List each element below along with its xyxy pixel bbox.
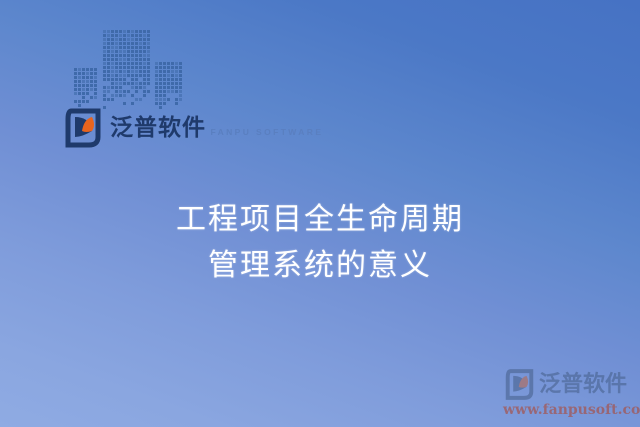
cityscape-pixel (107, 82, 110, 85)
cityscape-pixel (123, 58, 126, 61)
cityscape-pixel (123, 34, 126, 37)
cityscape-pixel (171, 70, 174, 73)
cityscape-pixel (86, 72, 89, 75)
cityscape-pixel (119, 86, 122, 89)
cityscape-pixel (135, 54, 138, 57)
cityscape-pixel (123, 54, 126, 57)
cityscape-pixel (123, 78, 126, 81)
cityscape-pixel (135, 90, 138, 93)
cityscape-pixel (119, 98, 122, 101)
cityscape-pixel (179, 94, 182, 97)
cityscape-pixel (147, 66, 150, 69)
cityscape-pixel (143, 34, 146, 37)
cityscape-pixel (107, 98, 110, 101)
cityscape-pixel (119, 94, 122, 97)
pixelated-cityscape-graphic (74, 26, 186, 112)
cityscape-pixel (74, 84, 77, 87)
cityscape-pixel (139, 78, 142, 81)
cityscape-pixel (139, 90, 142, 93)
cityscape-pixel (74, 68, 77, 71)
cityscape-pixel (155, 74, 158, 77)
cityscape-pixel (131, 54, 134, 57)
cityscape-pixel (167, 102, 170, 105)
cityscape-pixel (147, 82, 150, 85)
cityscape-pixel (143, 30, 146, 33)
cityscape-pixel (159, 90, 162, 93)
cityscape-pixel (119, 34, 122, 37)
cityscape-pixel (179, 62, 182, 65)
cityscape-pixel (111, 66, 114, 69)
cityscape-pixel (78, 100, 81, 103)
cityscape-pixel (123, 66, 126, 69)
slide-title-line-1: 工程项目全生命周期 (0, 197, 640, 243)
cityscape-pixel (139, 82, 142, 85)
cityscape-pixel (127, 34, 130, 37)
cityscape-pixel (123, 70, 126, 73)
cityscape-pixel (127, 30, 130, 33)
cityscape-pixel (103, 62, 106, 65)
cityscape-pixel (159, 78, 162, 81)
cityscape-pixel (107, 94, 110, 97)
cityscape-pixel (127, 102, 130, 105)
cityscape-pixel (143, 94, 146, 97)
cityscape-pixel (115, 86, 118, 89)
cityscape-pixel (135, 98, 138, 101)
cityscape-pixel (131, 78, 134, 81)
cityscape-pixel (107, 42, 110, 45)
cityscape-pixel (155, 90, 158, 93)
cityscape-pixel (139, 42, 142, 45)
cityscape-pixel (147, 98, 150, 101)
cityscape-pixel (111, 86, 114, 89)
cityscape-pixel (94, 84, 97, 87)
cityscape-pixel (115, 50, 118, 53)
cityscape-pixel (131, 82, 134, 85)
cityscape-pixel (171, 86, 174, 89)
cityscape-pixel (111, 94, 114, 97)
fanpu-emblem-icon (62, 107, 104, 149)
cityscape-pixel (163, 82, 166, 85)
cityscape-pixel (94, 92, 97, 95)
cityscape-pixel (94, 72, 97, 75)
cityscape-pixel (135, 74, 138, 77)
cityscape-pixel (123, 94, 126, 97)
cityscape-pixel (107, 58, 110, 61)
cityscape-pixel (135, 38, 138, 41)
cityscape-pixel (131, 102, 134, 105)
cityscape-pixel (139, 34, 142, 37)
cityscape-pixel (123, 102, 126, 105)
cityscape-pixel (175, 70, 178, 73)
cityscape-pixel (115, 94, 118, 97)
cityscape-pixel (119, 58, 122, 61)
cityscape-pixel (143, 50, 146, 53)
cityscape-pixel (119, 30, 122, 33)
cityscape-pixel (147, 70, 150, 73)
cityscape-pixel (74, 80, 77, 83)
cityscape-pixel (115, 42, 118, 45)
cityscape-pixel (155, 62, 158, 65)
watermark-url: www.fanpusoft.com (503, 402, 639, 418)
cityscape-pixel (78, 96, 81, 99)
cityscape-pixel (139, 70, 142, 73)
cityscape-pixel (111, 74, 114, 77)
cityscape-pixel (147, 30, 150, 33)
cityscape-pixel (107, 30, 110, 33)
cityscape-pixel (135, 58, 138, 61)
cityscape-pixel (115, 82, 118, 85)
cityscape-pixel (167, 82, 170, 85)
cityscape-pixel (127, 98, 130, 101)
cityscape-pixel (107, 38, 110, 41)
cityscape-pixel (163, 90, 166, 93)
cityscape-pixel (147, 74, 150, 77)
cityscape-pixel (147, 46, 150, 49)
cityscape-pixel (127, 90, 130, 93)
cityscape-pixel (90, 88, 93, 91)
cityscape-pixel (139, 66, 142, 69)
cityscape-pixel (111, 78, 114, 81)
cityscape-pixel (131, 46, 134, 49)
cityscape-pixel (74, 92, 77, 95)
cityscape-pixel (143, 42, 146, 45)
cityscape-pixel (155, 102, 158, 105)
cityscape-pixel (107, 50, 110, 53)
cityscape-pixel (171, 74, 174, 77)
cityscape-pixel (103, 82, 106, 85)
cityscape-pixel (179, 90, 182, 93)
cityscape-pixel (82, 80, 85, 83)
cityscape-pixel (143, 54, 146, 57)
cityscape-pixel (103, 78, 106, 81)
cityscape-pixel (94, 68, 97, 71)
cityscape-pixel (123, 50, 126, 53)
cityscape-pixel (147, 86, 150, 89)
cityscape-pixel (139, 50, 142, 53)
cityscape-pixel (175, 78, 178, 81)
cityscape-pixel (103, 38, 106, 41)
cityscape-pixel (139, 38, 142, 41)
cityscape-pixel (103, 34, 106, 37)
cityscape-pixel (90, 68, 93, 71)
cityscape-pixel (175, 86, 178, 89)
cityscape-pixel (131, 30, 134, 33)
cityscape-pixel (86, 80, 89, 83)
cityscape-pixel (115, 70, 118, 73)
cityscape-pixel (131, 50, 134, 53)
cityscape-pixel (131, 98, 134, 101)
cityscape-pixel (119, 70, 122, 73)
cityscape-pixel (119, 62, 122, 65)
cityscape-pixel (78, 80, 81, 83)
cityscape-pixel (103, 46, 106, 49)
cityscape-pixel (123, 30, 126, 33)
brand-logo-text: 泛普软件 FANPU SOFTWARE (110, 116, 323, 141)
cityscape-pixel (74, 76, 77, 79)
cityscape-pixel (147, 58, 150, 61)
cityscape-pixel (119, 74, 122, 77)
cityscape-pixel (131, 58, 134, 61)
cityscape-pixel (155, 70, 158, 73)
cityscape-pixel (143, 38, 146, 41)
cityscape-pixel (143, 46, 146, 49)
cityscape-pixel (90, 84, 93, 87)
cityscape-pixel (111, 50, 114, 53)
cityscape-pixel (90, 100, 93, 103)
cityscape-pixel (135, 42, 138, 45)
cityscape-pixel (171, 82, 174, 85)
cityscape-pixel (103, 90, 106, 93)
cityscape-pixel (175, 98, 178, 101)
cityscape-pixel (131, 66, 134, 69)
cityscape-pixel (179, 78, 182, 81)
cityscape-pixel (135, 82, 138, 85)
cityscape-pixel (107, 62, 110, 65)
cityscape-pixel (155, 86, 158, 89)
cityscape-pixel (103, 42, 106, 45)
cityscape-pixel (167, 98, 170, 101)
slide-canvas: 泛普软件 FANPU SOFTWARE 工程项目全生命周期 管理系统的意义 泛普… (0, 0, 640, 427)
cityscape-pixel (74, 88, 77, 91)
cityscape-pixel (115, 62, 118, 65)
cityscape-pixel (127, 38, 130, 41)
cityscape-pixel (119, 42, 122, 45)
cityscape-pixel (135, 30, 138, 33)
cityscape-pixel (103, 66, 106, 69)
cityscape-pixel (167, 74, 170, 77)
cityscape-pixel (86, 92, 89, 95)
cityscape-pixel (131, 70, 134, 73)
cityscape-pixel (159, 74, 162, 77)
cityscape-pixel (127, 50, 130, 53)
cityscape-pixel (135, 46, 138, 49)
cityscape-pixel (115, 46, 118, 49)
cityscape-pixel (94, 80, 97, 83)
cityscape-pixel (147, 38, 150, 41)
slide-title-line-2: 管理系统的意义 (0, 243, 640, 289)
cityscape-pixel (143, 82, 146, 85)
cityscape-pixel (119, 102, 122, 105)
cityscape-pixel (123, 74, 126, 77)
cityscape-pixel (163, 62, 166, 65)
cityscape-pixel (115, 102, 118, 105)
cityscape-pixel (119, 50, 122, 53)
cityscape-pixel (135, 66, 138, 69)
cityscape-pixel (163, 94, 166, 97)
cityscape-pixel (159, 86, 162, 89)
cityscape-pixel (143, 62, 146, 65)
cityscape-pixel (74, 100, 77, 103)
cityscape-pixel (147, 102, 150, 105)
cityscape-pixel (139, 74, 142, 77)
cityscape-pixel (127, 94, 130, 97)
cityscape-pixel (107, 34, 110, 37)
cityscape-pixel (143, 102, 146, 105)
cityscape-pixel (123, 90, 126, 93)
cityscape-pixel (159, 62, 162, 65)
cityscape-pixel (163, 86, 166, 89)
cityscape-pixel (175, 94, 178, 97)
cityscape-pixel (107, 54, 110, 57)
cityscape-pixel (111, 34, 114, 37)
cityscape-pixel (123, 38, 126, 41)
cityscape-pixel (143, 70, 146, 73)
cityscape-pixel (107, 78, 110, 81)
cityscape-pixel (123, 86, 126, 89)
cityscape-pixel (103, 30, 106, 33)
cityscape-pixel (175, 82, 178, 85)
cityscape-pixel (127, 54, 130, 57)
cityscape-pixel (119, 78, 122, 81)
cityscape-pixel (179, 74, 182, 77)
brand-name-en: FANPU SOFTWARE (210, 127, 323, 137)
cityscape-pixel (179, 102, 182, 105)
watermark-brand-name: 泛普软件 (539, 373, 627, 397)
brand-logo: 泛普软件 FANPU SOFTWARE (62, 107, 323, 149)
cityscape-pixel (90, 92, 93, 95)
cityscape-pixel (171, 94, 174, 97)
cityscape-pixel (115, 90, 118, 93)
cityscape-pixel (135, 70, 138, 73)
cityscape-pixel (139, 94, 142, 97)
cityscape-pixel (147, 54, 150, 57)
cityscape-pixel (159, 98, 162, 101)
cityscape-pixel (179, 66, 182, 69)
cityscape-pixel (175, 102, 178, 105)
cityscape-pixel (111, 30, 114, 33)
cityscape-pixel (155, 94, 158, 97)
cityscape-pixel (103, 58, 106, 61)
cityscape-pixel (147, 94, 150, 97)
cityscape-pixel (94, 76, 97, 79)
cityscape-pixel (143, 98, 146, 101)
cityscape-pixel (139, 46, 142, 49)
cityscape-pixel (163, 70, 166, 73)
cityscape-pixel (78, 68, 81, 71)
cityscape-pixel (147, 42, 150, 45)
cityscape-pixel (103, 94, 106, 97)
cityscape-pixel (131, 34, 134, 37)
cityscape-pixel (115, 58, 118, 61)
cityscape-pixel (111, 58, 114, 61)
cityscape-pixel (167, 78, 170, 81)
cityscape-pixel (143, 74, 146, 77)
cityscape-pixel (167, 90, 170, 93)
cityscape-pixel (135, 94, 138, 97)
cityscape-pixel (167, 62, 170, 65)
cityscape-pixel (159, 66, 162, 69)
brand-name-cn: 泛普软件 (110, 115, 206, 141)
cityscape-pixel (163, 66, 166, 69)
cityscape-pixel (131, 42, 134, 45)
cityscape-pixel (131, 86, 134, 89)
cityscape-pixel (123, 98, 126, 101)
cityscape-pixel (74, 72, 77, 75)
cityscape-pixel (115, 34, 118, 37)
cityscape-pixel (78, 84, 81, 87)
cityscape-pixel (119, 54, 122, 57)
cityscape-pixel (82, 76, 85, 79)
cityscape-pixel (90, 76, 93, 79)
cityscape-building-left (74, 68, 96, 112)
cityscape-pixel (123, 62, 126, 65)
cityscape-pixel (103, 74, 106, 77)
cityscape-pixel (111, 54, 114, 57)
cityscape-pixel (143, 90, 146, 93)
cityscape-pixel (131, 62, 134, 65)
cityscape-pixel (143, 78, 146, 81)
cityscape-pixel (103, 102, 106, 105)
cityscape-pixel (135, 102, 138, 105)
cityscape-pixel (139, 58, 142, 61)
cityscape-pixel (111, 42, 114, 45)
cityscape-pixel (147, 50, 150, 53)
cityscape-pixel (103, 86, 106, 89)
cityscape-pixel (159, 94, 162, 97)
cityscape-pixel (111, 102, 114, 105)
cityscape-pixel (179, 70, 182, 73)
cityscape-pixel (143, 58, 146, 61)
cityscape-pixel (115, 38, 118, 41)
cityscape-pixel (135, 50, 138, 53)
cityscape-pixel (163, 98, 166, 101)
cityscape-pixel (167, 86, 170, 89)
cityscape-pixel (179, 82, 182, 85)
cityscape-pixel (171, 90, 174, 93)
cityscape-pixel (175, 90, 178, 93)
cityscape-pixel (127, 78, 130, 81)
cityscape-pixel (143, 86, 146, 89)
cityscape-pixel (111, 46, 114, 49)
cityscape-pixel (139, 30, 142, 33)
cityscape-pixel (179, 86, 182, 89)
cityscape-pixel (111, 70, 114, 73)
cityscape-pixel (103, 50, 106, 53)
cityscape-pixel (115, 66, 118, 69)
cityscape-pixel (82, 100, 85, 103)
slide-title: 工程项目全生命周期 管理系统的意义 (0, 197, 640, 289)
cityscape-pixel (74, 96, 77, 99)
cityscape-pixel (94, 100, 97, 103)
cityscape-pixel (107, 86, 110, 89)
watermark-logo-row: 泛普软件 (503, 368, 639, 401)
cityscape-pixel (115, 74, 118, 77)
cityscape-pixel (159, 70, 162, 73)
cityscape-pixel (82, 88, 85, 91)
cityscape-pixel (167, 66, 170, 69)
cityscape-pixel (123, 42, 126, 45)
cityscape-pixel (167, 94, 170, 97)
cityscape-pixel (115, 54, 118, 57)
cityscape-pixel (111, 90, 114, 93)
cityscape-pixel (123, 82, 126, 85)
cityscape-pixel (159, 102, 162, 105)
cityscape-pixel (171, 66, 174, 69)
cityscape-pixel (86, 84, 89, 87)
cityscape-pixel (115, 78, 118, 81)
cityscape-pixel (78, 76, 81, 79)
cityscape-pixel (86, 100, 89, 103)
cityscape-pixel (119, 38, 122, 41)
cityscape-pixel (86, 76, 89, 79)
cityscape-pixel (135, 78, 138, 81)
cityscape-pixel (171, 102, 174, 105)
cityscape-pixel (147, 90, 150, 93)
cityscape-pixel (147, 78, 150, 81)
cityscape-pixel (119, 82, 122, 85)
cityscape-pixel (175, 66, 178, 69)
cityscape-pixel (127, 86, 130, 89)
